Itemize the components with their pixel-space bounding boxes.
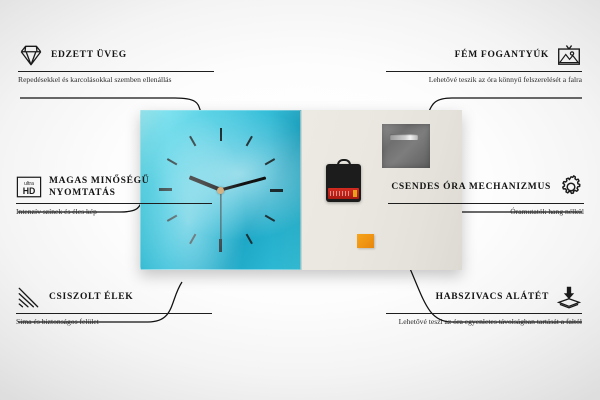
battery <box>328 188 359 199</box>
feature-title: MAGAS MINŐSÉGŰ NYOMTATÁS <box>49 175 212 199</box>
battery-terminal <box>353 190 357 197</box>
feature-csiszolt-elek: CSISZOLT ÉLEK Sima és biztonságos felüle… <box>16 284 212 327</box>
picture-hanger-icon <box>556 42 582 68</box>
clock-mechanism <box>326 164 361 202</box>
divider <box>388 203 584 204</box>
mechanism-loop <box>337 159 351 168</box>
feature-habszivacs-alatet: HABSZIVACS ALÁTÉT Lehetővé teszi az óra … <box>386 284 582 327</box>
clock-minute-hand <box>220 176 266 191</box>
feature-fem-fogantyuk: FÉM FOGANTYÚK Lehetővé teszik az óra kön… <box>386 42 582 85</box>
feature-desc: Óramutatók hang nélkül <box>388 207 584 217</box>
hanger-slot <box>390 134 418 140</box>
feature-title: EDZETT ÜVEG <box>51 49 127 61</box>
feature-desc: Repedésekkel és karcolásokkal szemben el… <box>18 75 214 85</box>
divider <box>386 71 582 72</box>
polished-edge-icon <box>16 284 42 310</box>
feature-title: HABSZIVACS ALÁTÉT <box>436 291 549 303</box>
feature-csendes-ora-mechanizmus: CSENDES ÓRA MECHANIZMUS Óramutatók hang … <box>388 174 584 217</box>
feature-desc: Lehetővé teszi az óra egyenletes távolsá… <box>386 317 582 327</box>
infographic-stage: EDZETT ÜVEG Repedésekkel és karcolásokka… <box>0 0 600 400</box>
feature-desc: Sima és biztonságos felület <box>16 317 212 327</box>
metal-hanger <box>382 124 430 168</box>
feature-title: FÉM FOGANTYÚK <box>455 49 549 61</box>
feature-title: CSENDES ÓRA MECHANIZMUS <box>391 181 551 193</box>
svg-text:HD: HD <box>23 186 36 196</box>
foam-pad <box>357 234 374 248</box>
feature-magas-minosegu-nyomtatas: ultra HD MAGAS MINŐSÉGŰ NYOMTATÁS Intenz… <box>16 174 212 217</box>
divider <box>18 71 214 72</box>
divider <box>386 313 582 314</box>
foam-pad-icon <box>556 284 582 310</box>
divider <box>16 313 212 314</box>
divider <box>16 203 212 204</box>
ultra-hd-icon: ultra HD <box>16 174 42 200</box>
diamond-icon <box>18 42 44 68</box>
gear-icon <box>558 174 584 200</box>
clock-center-cap <box>217 187 224 194</box>
battery-label <box>330 191 351 196</box>
feature-title: CSISZOLT ÉLEK <box>49 291 133 303</box>
feature-edzett-uveg: EDZETT ÜVEG Repedésekkel és karcolásokka… <box>18 42 214 85</box>
clock-second-hand <box>220 190 221 246</box>
feature-desc: Intenzív színek és éles kép <box>16 207 212 217</box>
feature-desc: Lehetővé teszik az óra könnyű felszerelé… <box>386 75 582 85</box>
